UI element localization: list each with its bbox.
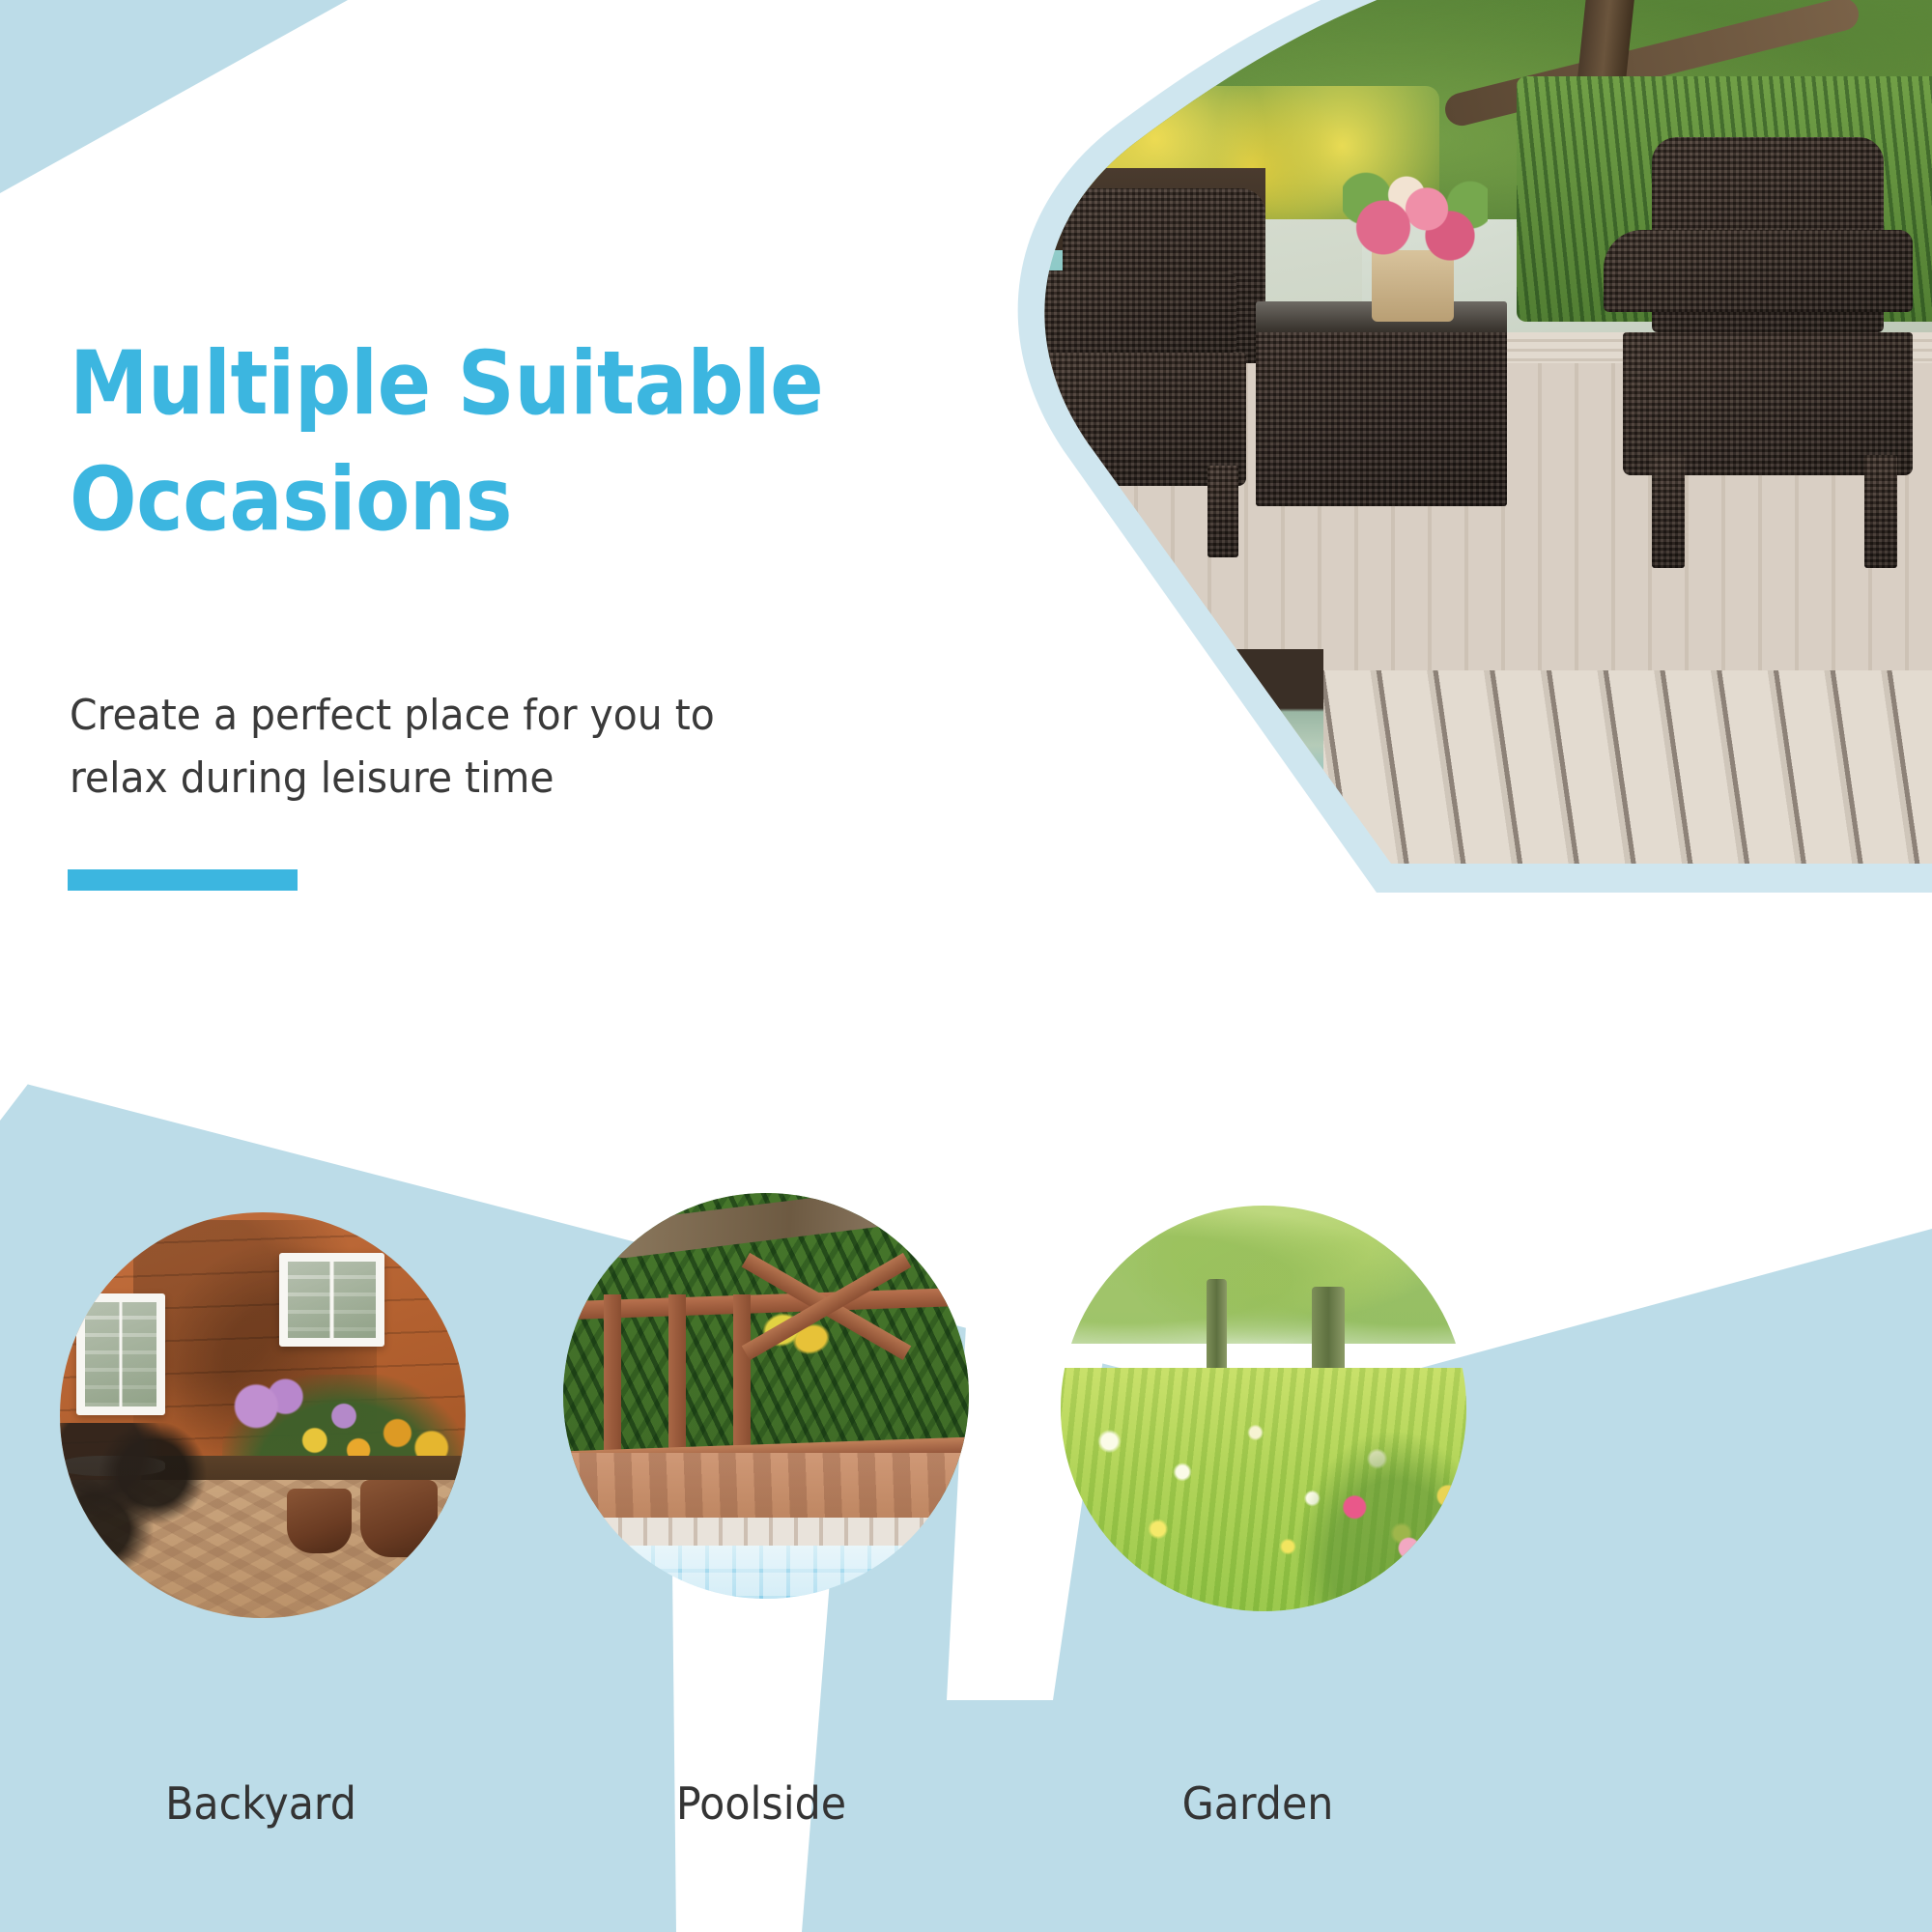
occasion-photo-poolside — [563, 1193, 969, 1599]
caption-garden: Garden — [1069, 1777, 1447, 1830]
caption-backyard: Backyard — [72, 1777, 450, 1830]
page-title: Multiple Suitable Occasions — [70, 327, 852, 558]
hero-photo — [976, 0, 1932, 1018]
accent-bar — [68, 869, 298, 891]
occasion-photo-garden — [1061, 1206, 1466, 1611]
caption-poolside: Poolside — [573, 1777, 951, 1830]
page-subtitle: Create a perfect place for you to relax … — [70, 684, 815, 810]
occasion-photo-backyard — [60, 1212, 466, 1618]
left-blue-band — [0, 0, 343, 184]
poster-canvas: Multiple Suitable Occasions Create a per… — [0, 0, 1932, 1932]
